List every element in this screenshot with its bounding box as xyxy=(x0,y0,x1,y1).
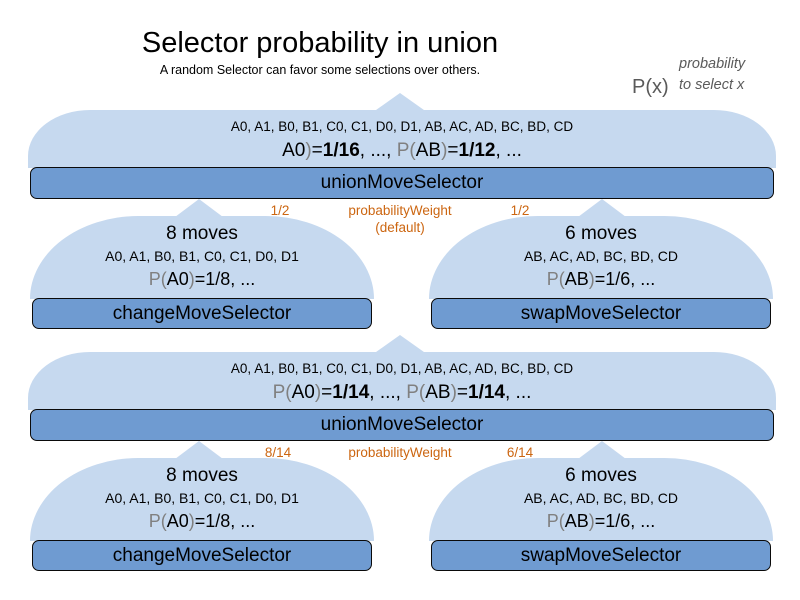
union-moves-list: A0, A1, B0, B1, C0, C1, D0, D1, AB, AC, … xyxy=(28,360,776,378)
prob-tail: , ... xyxy=(230,511,255,531)
change-probability: P(A0)=1/8, ... xyxy=(30,268,374,290)
legend-description-line2: to select x xyxy=(679,75,745,96)
prob-tail: , ... xyxy=(630,511,655,531)
swap-move-selector-label: swapMoveSelector xyxy=(521,545,682,567)
prob2-value: 1/12 xyxy=(459,140,496,161)
legend-symbol: P(x) xyxy=(632,76,669,99)
prob-name: A0 xyxy=(292,382,315,403)
prob-equals: = xyxy=(595,511,606,531)
swap-probability: P(AB)=1/6, ... xyxy=(429,268,773,290)
prob2-equals: = xyxy=(457,382,468,403)
union-move-selector-label: unionMoveSelector xyxy=(321,172,484,194)
prob-separator: , ..., xyxy=(360,140,397,161)
change-move-selector-dome: 8 moves A0, A1, B0, B1, C0, C1, D0, D1 P… xyxy=(30,458,374,541)
union-dome: A0, A1, B0, B1, C0, C1, D0, D1, AB, AC, … xyxy=(28,110,776,168)
prob-value: 1/6 xyxy=(605,511,630,531)
change-moves-count: 8 moves xyxy=(30,465,374,487)
prob-name: AB xyxy=(565,511,589,531)
prob-open-paren: P( xyxy=(273,382,292,403)
change-moves-list: A0, A1, B0, B1, C0, C1, D0, D1 xyxy=(30,489,374,507)
prob-equals: = xyxy=(321,382,332,403)
prob-name: A0 xyxy=(282,140,305,161)
prob-separator: , ..., xyxy=(369,382,406,403)
prob-value: 1/8 xyxy=(205,511,230,531)
prob-name: A0 xyxy=(167,269,189,289)
union-moves-list: A0, A1, B0, B1, C0, C1, D0, D1, AB, AC, … xyxy=(28,118,776,136)
probability-weight-label: probabilityWeight xyxy=(320,444,480,461)
diagram-canvas: Selector probability in union A random S… xyxy=(0,0,800,600)
prob-open-paren: P( xyxy=(149,511,167,531)
prob2-equals: = xyxy=(447,140,458,161)
swap-move-selector-dome: 6 moves AB, AC, AD, BC, BD, CD P(AB)=1/6… xyxy=(429,216,773,299)
probability-weight-label-text: probabilityWeight xyxy=(320,202,480,219)
page-subtitle: A random Selector can favor some selecti… xyxy=(0,62,640,78)
union-move-selector-bar[interactable]: unionMoveSelector xyxy=(30,167,774,199)
change-probability: P(A0)=1/8, ... xyxy=(30,510,374,532)
prob-value: 1/14 xyxy=(332,382,369,403)
prob2-name: AB xyxy=(416,140,441,161)
swap-move-selector-bar[interactable]: swapMoveSelector xyxy=(431,298,771,329)
swap-probability: P(AB)=1/6, ... xyxy=(429,510,773,532)
legend: P(x) probability to select x xyxy=(632,54,800,108)
change-moves-count: 8 moves xyxy=(30,223,374,245)
prob2-open-paren: P( xyxy=(397,140,416,161)
swap-moves-list: AB, AC, AD, BC, BD, CD xyxy=(429,247,773,265)
swap-moves-count: 6 moves xyxy=(429,223,773,245)
prob2-name: AB xyxy=(425,382,450,403)
prob-equals: = xyxy=(312,140,323,161)
prob-equals: = xyxy=(595,269,606,289)
swap-moves-count: 6 moves xyxy=(429,465,773,487)
swap-move-selector-bar[interactable]: swapMoveSelector xyxy=(431,540,771,571)
change-move-selector-label: changeMoveSelector xyxy=(113,545,292,567)
diagram-header: Selector probability in union A random S… xyxy=(0,26,800,96)
prob-equals: = xyxy=(195,511,206,531)
union-move-selector-label: unionMoveSelector xyxy=(321,414,484,436)
prob-value: 1/16 xyxy=(323,140,360,161)
change-moves-list: A0, A1, B0, B1, C0, C1, D0, D1 xyxy=(30,247,374,265)
prob-open-paren: P( xyxy=(547,511,565,531)
union-probability: A0)=1/16, ..., P(AB)=1/12, ... xyxy=(28,140,776,162)
union-dome: A0, A1, B0, B1, C0, C1, D0, D1, AB, AC, … xyxy=(28,352,776,410)
probability-weight-label-text: probabilityWeight xyxy=(320,444,480,461)
prob-tail: , ... xyxy=(630,269,655,289)
prob2-open-paren: P( xyxy=(406,382,425,403)
legend-description-line1: probability xyxy=(679,54,745,75)
swap-moves-list: AB, AC, AD, BC, BD, CD xyxy=(429,489,773,507)
prob-tail: , ... xyxy=(496,140,522,161)
union-move-selector-bar[interactable]: unionMoveSelector xyxy=(30,409,774,441)
prob-open-paren: P( xyxy=(149,269,167,289)
prob-value: 1/8 xyxy=(205,269,230,289)
prob-tail: , ... xyxy=(505,382,531,403)
prob-value: 1/6 xyxy=(605,269,630,289)
prob-name: AB xyxy=(565,269,589,289)
prob2-value: 1/14 xyxy=(468,382,505,403)
prob-name: A0 xyxy=(167,511,189,531)
page-title: Selector probability in union xyxy=(0,26,640,60)
prob-tail: , ... xyxy=(230,269,255,289)
change-move-selector-label: changeMoveSelector xyxy=(113,303,292,325)
union-probability: P(A0)=1/14, ..., P(AB)=1/14, ... xyxy=(28,382,776,404)
legend-description: probability to select x xyxy=(679,54,745,96)
prob-equals: = xyxy=(195,269,206,289)
change-move-selector-bar[interactable]: changeMoveSelector xyxy=(32,298,372,329)
prob-open-paren: P( xyxy=(547,269,565,289)
swap-move-selector-label: swapMoveSelector xyxy=(521,303,682,325)
change-move-selector-dome: 8 moves A0, A1, B0, B1, C0, C1, D0, D1 P… xyxy=(30,216,374,299)
change-move-selector-bar[interactable]: changeMoveSelector xyxy=(32,540,372,571)
swap-move-selector-dome: 6 moves AB, AC, AD, BC, BD, CD P(AB)=1/6… xyxy=(429,458,773,541)
